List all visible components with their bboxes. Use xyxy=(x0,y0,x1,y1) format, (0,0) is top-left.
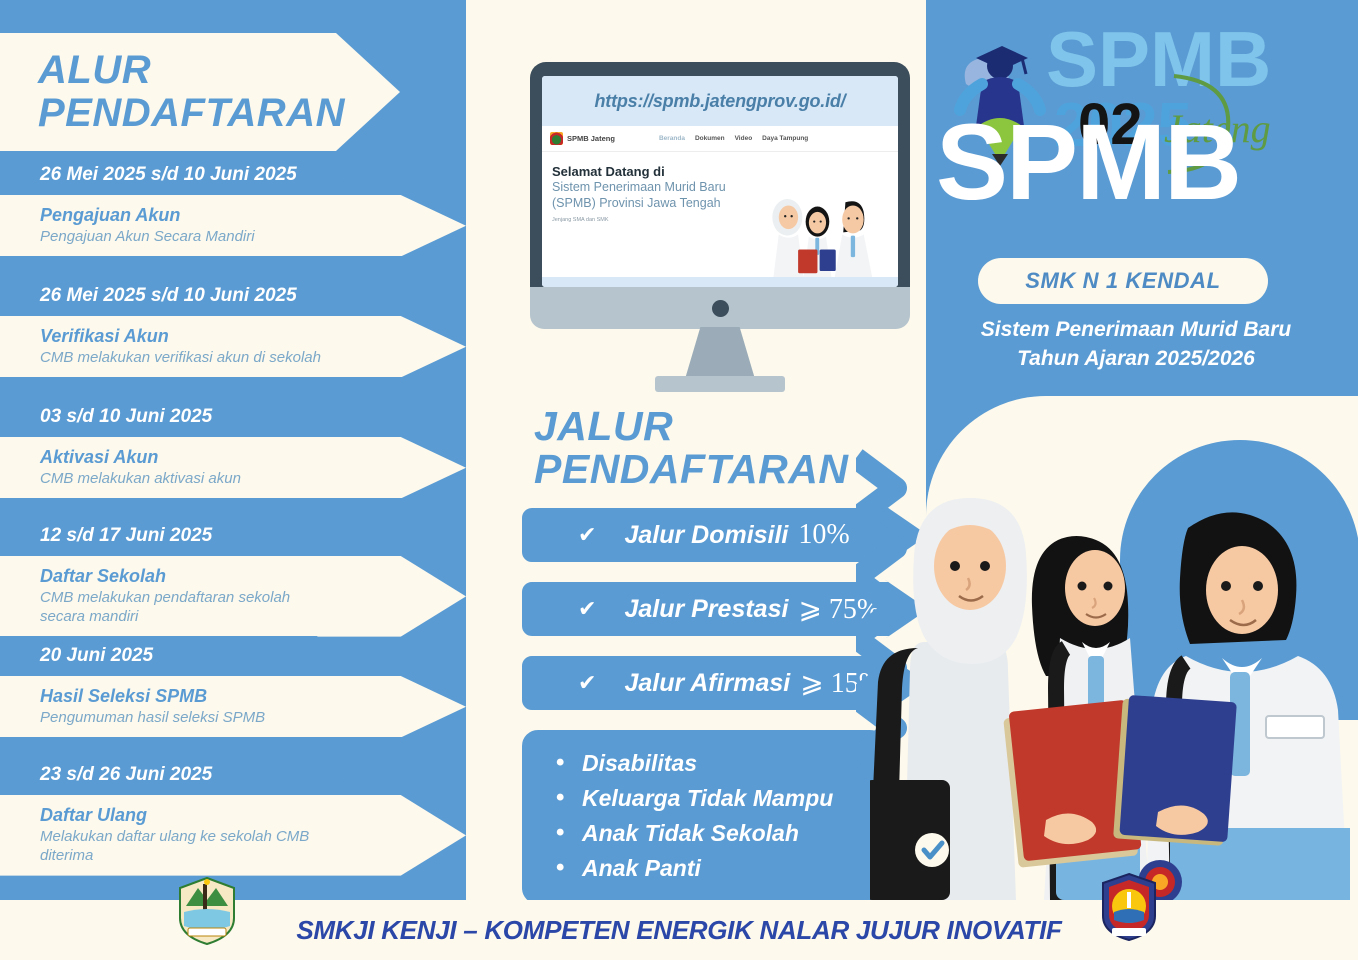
site-brand[interactable]: SPMB Jateng xyxy=(550,132,615,145)
monitor-power-dot-icon xyxy=(712,300,729,317)
monitor-stand-base xyxy=(655,376,785,392)
step-date: 12 s/d 17 Juni 2025 xyxy=(0,516,352,556)
logo-big-word: SPMB xyxy=(936,101,1240,222)
site-hero-copy: Selamat Datang di Sistem Penerimaan Muri… xyxy=(552,164,741,269)
step-date: 03 s/d 10 Juni 2025 xyxy=(0,397,352,437)
site-nav-link-video[interactable]: Video xyxy=(735,135,753,142)
site-nav-link-daya-tampung[interactable]: Daya Tampung xyxy=(762,135,808,142)
site-nav-links: Beranda Dokumen Video Daya Tampung xyxy=(659,135,808,142)
site-nav-link-beranda[interactable]: Beranda xyxy=(659,135,685,142)
url-text: https://spmb.jatengprov.go.id/ xyxy=(594,91,845,112)
poster-canvas: ALUR PENDAFTARAN 26 Mei 2025 s/d 10 Juni… xyxy=(0,0,1358,960)
smkn1kendal-emblem-icon xyxy=(1098,872,1160,942)
step-body: Pengajuan Akun Pengajuan Akun Secara Man… xyxy=(0,195,466,256)
timeline-step: 12 s/d 17 Juni 2025 Daftar Sekolah CMB m… xyxy=(0,516,466,637)
monitor-bezel: https://spmb.jatengprov.go.id/ SPMB Jate… xyxy=(530,62,910,287)
step-title: Verifikasi Akun xyxy=(40,324,466,348)
step-body: Daftar Ulang Melakukan daftar ulang ke s… xyxy=(0,795,466,876)
timeline-step: 26 Mei 2025 s/d 10 Juni 2025 Verifikasi … xyxy=(0,276,466,377)
url-bar[interactable]: https://spmb.jatengprov.go.id/ xyxy=(542,76,898,126)
site-nav-link-dokumen[interactable]: Dokumen xyxy=(695,135,725,142)
step-desc: CMB melakukan verifikasi akun di sekolah xyxy=(40,348,330,367)
step-date: 26 Mei 2025 s/d 10 Juni 2025 xyxy=(0,276,352,316)
alur-heading-line1: ALUR xyxy=(38,49,400,92)
student-hijab-girl xyxy=(870,498,1027,900)
timeline-step: 26 Mei 2025 s/d 10 Juni 2025 Pengajuan A… xyxy=(0,155,466,256)
kriteria-item: Anak Panti xyxy=(556,851,868,886)
monitor-chin xyxy=(530,287,910,329)
step-desc: CMB melakukan aktivasi akun xyxy=(40,469,330,488)
step-title: Pengajuan Akun xyxy=(40,203,466,227)
step-date: 20 Juni 2025 xyxy=(0,636,352,676)
timeline-step: 03 s/d 10 Juni 2025 Aktivasi Akun CMB me… xyxy=(0,397,466,498)
step-body: Verifikasi Akun CMB melakukan verifikasi… xyxy=(0,316,466,377)
browser-screen: https://spmb.jatengprov.go.id/ SPMB Jate… xyxy=(542,76,898,287)
step-title: Daftar Sekolah xyxy=(40,564,466,588)
school-subtitle: Sistem Penerimaan Murid Baru Tahun Ajara… xyxy=(926,316,1346,374)
jateng-emblem-icon xyxy=(550,132,563,145)
jalur-percentage: 10% xyxy=(798,519,849,551)
check-icon: ✔ xyxy=(578,672,596,694)
spmb-logo: SPMB 2025 02 Jateng SPMB xyxy=(926,14,1346,244)
step-date: 23 s/d 26 Juni 2025 xyxy=(0,755,352,795)
jalur-label: Jalur Domisili xyxy=(624,521,788,550)
step-body: Aktivasi Akun CMB melakukan aktivasi aku… xyxy=(0,437,466,498)
site-hero-line1: Selamat Datang di xyxy=(552,164,741,180)
logo-top-word: SPMB xyxy=(1046,15,1271,103)
step-body: Daftar Sekolah CMB melakukan pendaftaran… xyxy=(0,556,466,637)
jalur-label: Jalur Prestasi xyxy=(624,595,788,624)
site-hero-small: Jenjang SMA dan SMK xyxy=(552,217,741,223)
kriteria-item: Keluarga Tidak Mampu xyxy=(556,781,868,816)
books xyxy=(1003,695,1237,868)
check-icon: ✔ xyxy=(578,598,596,620)
timeline-step: 23 s/d 26 Juni 2025 Daftar Ulang Melakuk… xyxy=(0,755,466,876)
jalur-label: Jalur Afirmasi xyxy=(624,669,790,698)
site-hero-line2: Sistem Penerimaan Murid Baru (SPMB) Prov… xyxy=(552,180,741,211)
step-desc: CMB melakukan pendaftaran sekolah secara… xyxy=(40,588,330,626)
timeline-step: 20 Juni 2025 Hasil Seleksi SPMB Pengumum… xyxy=(0,636,466,737)
step-title: Daftar Ulang xyxy=(40,803,466,827)
school-subtitle-line2: Tahun Ajaran 2025/2026 xyxy=(926,345,1346,374)
step-title: Hasil Seleksi SPMB xyxy=(40,684,466,708)
monitor-mockup: https://spmb.jatengprov.go.id/ SPMB Jate… xyxy=(530,62,910,332)
monitor-stand-neck xyxy=(685,327,755,379)
students-illustration xyxy=(870,420,1358,900)
kriteria-afirmasi-box: Disabilitas Keluarga Tidak Mampu Anak Ti… xyxy=(518,726,890,908)
step-desc: Pengajuan Akun Secara Mandiri xyxy=(40,227,330,246)
alur-pendaftaran-panel: ALUR PENDAFTARAN 26 Mei 2025 s/d 10 Juni… xyxy=(0,0,466,900)
step-date: 26 Mei 2025 s/d 10 Juni 2025 xyxy=(0,155,352,195)
jawa-tengah-emblem-icon xyxy=(176,876,238,946)
step-body: Hasil Seleksi SPMB Pengumuman hasil sele… xyxy=(0,676,466,737)
check-icon: ✔ xyxy=(578,524,596,546)
step-title: Aktivasi Akun xyxy=(40,445,466,469)
alur-heading-line2: PENDAFTARAN xyxy=(38,92,400,135)
alur-heading: ALUR PENDAFTARAN xyxy=(0,33,400,151)
step-desc: Pengumuman hasil seleksi SPMB xyxy=(40,708,330,727)
kriteria-item: Disabilitas xyxy=(556,746,868,781)
center-panel-inner: https://spmb.jatengprov.go.id/ SPMB Jate… xyxy=(484,22,908,882)
footer-tagline: SMKJI KENJI – KOMPETEN ENERGIK NALAR JUJ… xyxy=(296,915,1061,946)
site-hero-students-illustration xyxy=(737,170,894,278)
school-name-pill: SMK N 1 KENDAL xyxy=(978,258,1268,304)
site-footband xyxy=(542,277,898,287)
site-navbar: SPMB Jateng Beranda Dokumen Video Daya T… xyxy=(542,126,898,152)
school-name-text: SMK N 1 KENDAL xyxy=(1025,268,1220,294)
site-hero: Selamat Datang di Sistem Penerimaan Muri… xyxy=(542,152,898,277)
step-desc: Melakukan daftar ulang ke sekolah CMB di… xyxy=(40,827,330,865)
school-subtitle-line1: Sistem Penerimaan Murid Baru xyxy=(926,316,1346,345)
site-brand-text: SPMB Jateng xyxy=(567,134,615,143)
kriteria-item: Anak Tidak Sekolah xyxy=(556,816,868,851)
